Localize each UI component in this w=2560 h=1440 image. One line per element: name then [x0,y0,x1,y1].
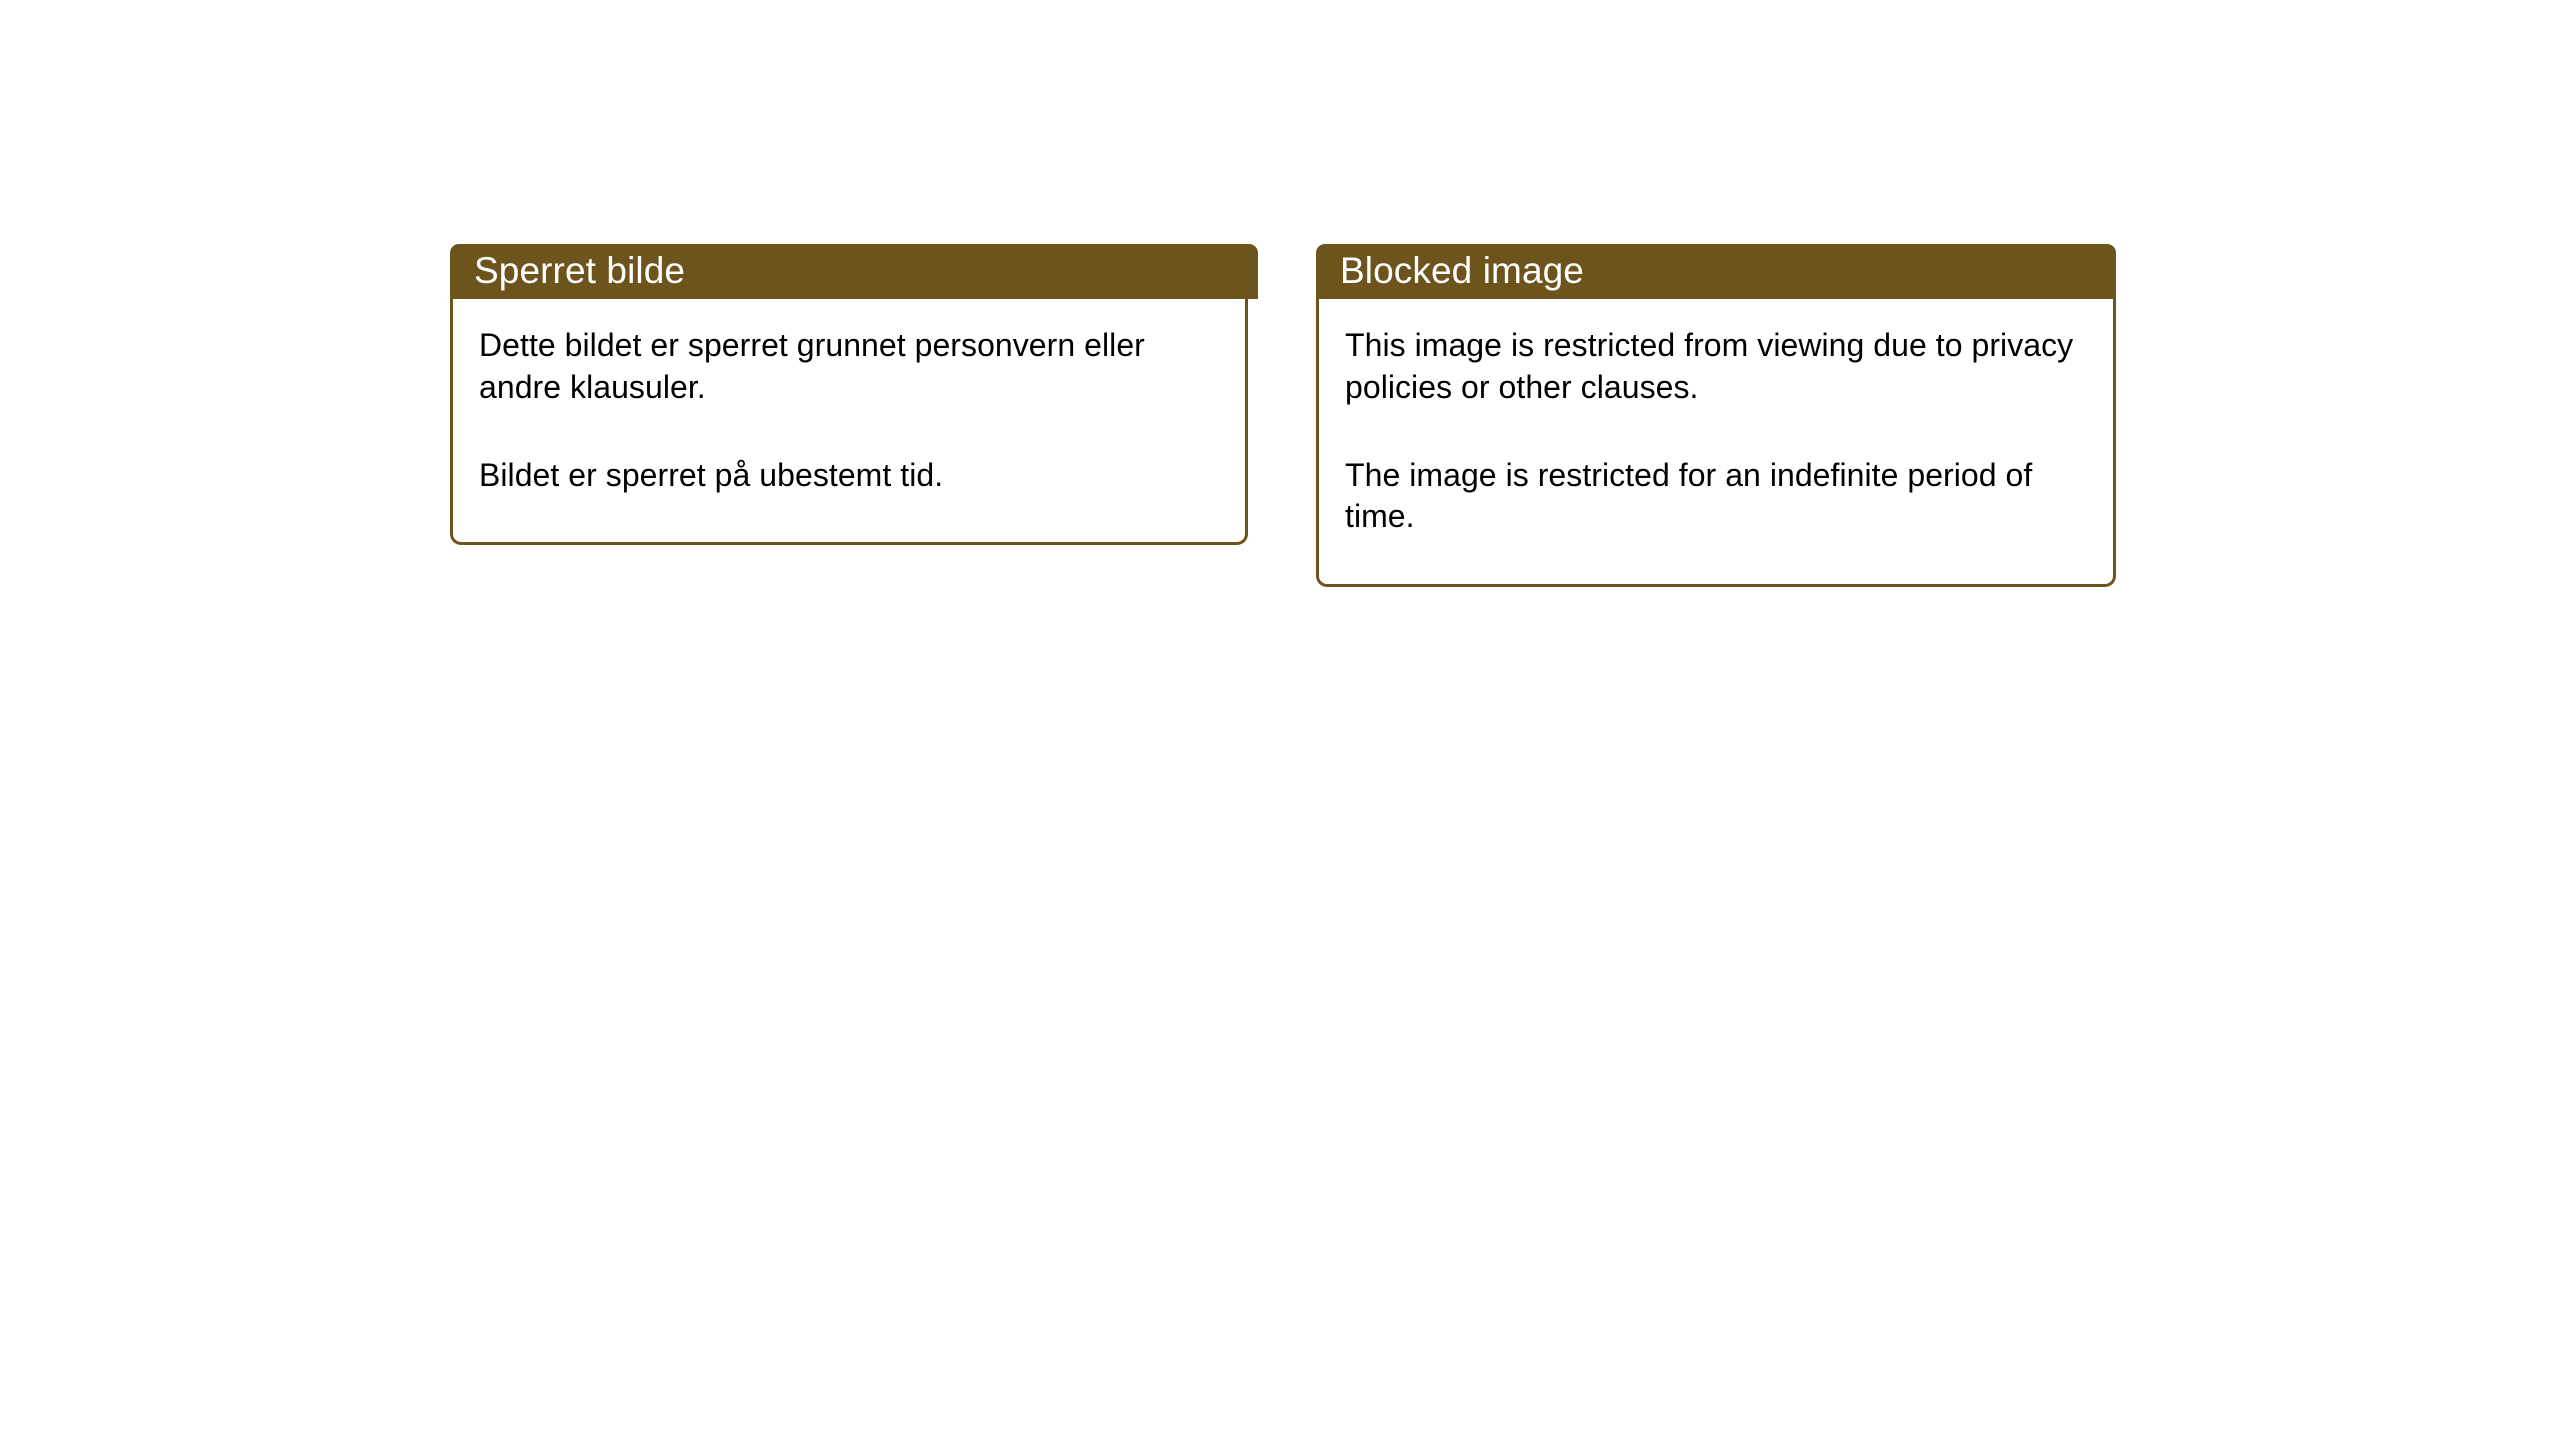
card-body-norwegian: Dette bildet er sperret grunnet personve… [450,299,1248,545]
page-root: Sperret bilde Dette bildet er sperret gr… [0,0,2560,1440]
card-paragraph: The image is restricted for an indefinit… [1345,455,2093,538]
blocked-image-card-norwegian: Sperret bilde Dette bildet er sperret gr… [450,244,1258,545]
blocked-image-card-english: Blocked image This image is restricted f… [1316,244,2116,587]
card-paragraph: Dette bildet er sperret grunnet personve… [479,325,1225,408]
card-title-norwegian: Sperret bilde [450,244,1258,299]
card-paragraph: This image is restricted from viewing du… [1345,325,2093,408]
card-title-english: Blocked image [1316,244,2116,299]
card-body-english: This image is restricted from viewing du… [1316,299,2116,586]
blocked-image-notice-group: Sperret bilde Dette bildet er sperret gr… [450,244,2116,587]
card-paragraph: Bildet er sperret på ubestemt tid. [479,455,1225,497]
